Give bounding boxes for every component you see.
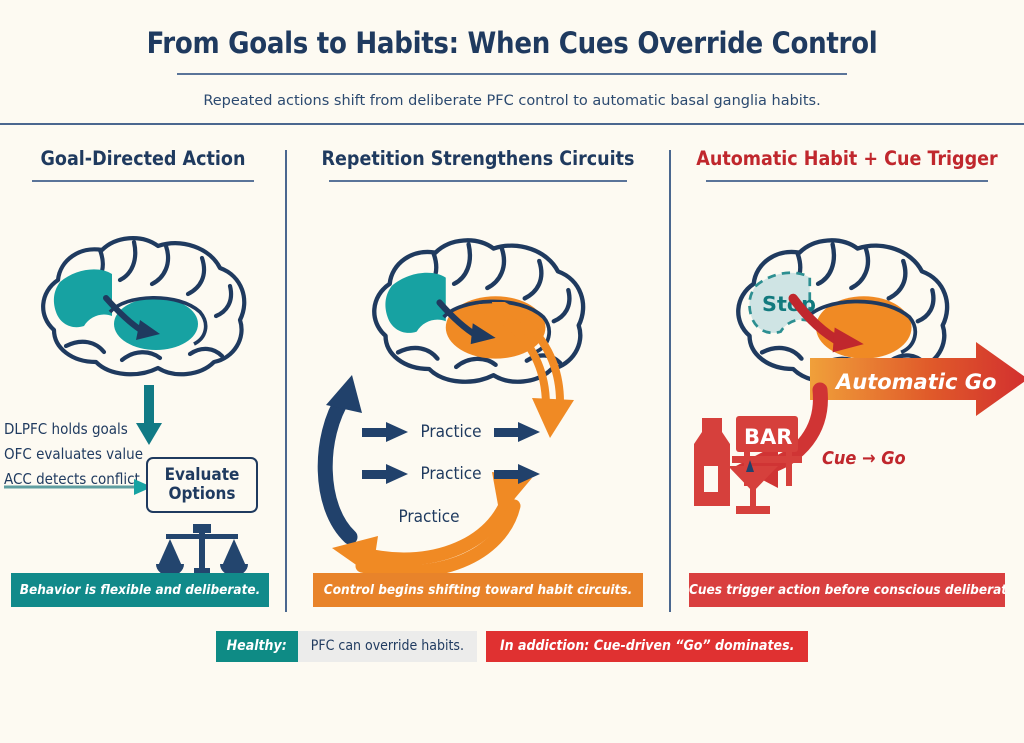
evaluate-box-line2: Options (168, 485, 235, 504)
title-underline (177, 73, 847, 75)
brain-diagram-goal-directed (14, 220, 274, 400)
header-divider (0, 123, 1024, 125)
panel-automatic-habit: Automatic Habit + Cue Trigger (670, 133, 1024, 613)
arrow-right-icon (494, 464, 540, 484)
panel-goal-directed: Goal-Directed Action (0, 133, 286, 613)
panel-3-header: Automatic Habit + Cue Trigger (670, 133, 1024, 182)
addiction-statement: In addiction: Cue-driven “Go” dominates. (486, 631, 808, 662)
practice-label: Practice (418, 464, 484, 484)
panel-divider-1 (285, 150, 287, 612)
panel-1-header: Goal-Directed Action (0, 133, 286, 182)
panel-1-title: Goal-Directed Action (0, 147, 286, 170)
automatic-go-label: Automatic Go (834, 370, 996, 394)
cue-to-go-label: Cue → Go (822, 448, 906, 469)
infographic-page: From Goals to Habits: When Cues Override… (0, 0, 1024, 743)
page-title: From Goals to Habits: When Cues Override… (0, 0, 1024, 60)
panel-3-body: Stop (670, 182, 1024, 562)
bottle-label (704, 466, 718, 492)
header: From Goals to Habits: When Cues Override… (0, 0, 1024, 109)
label-to-box-connector (4, 478, 154, 496)
habit-outflow-pathway (476, 302, 626, 472)
evaluate-box-line1: Evaluate (165, 466, 240, 485)
region-label-ofc: OFC evaluates value (4, 442, 143, 467)
striatum-region (114, 298, 198, 350)
panel-repetition: Repetition Strengthens Circuits (286, 133, 670, 613)
cue-icons-group: BAR (688, 410, 808, 520)
panel-2-body: Practice Practice (286, 182, 670, 562)
bottle-icon (694, 418, 730, 506)
panel-2-header: Repetition Strengthens Circuits (286, 133, 670, 182)
panel-1-body: DLPFC holds goals OFC evaluates value AC… (0, 182, 286, 562)
healthy-chip: Healthy: (216, 631, 298, 662)
panel-row: Goal-Directed Action (0, 133, 1024, 613)
panel-3-title: Automatic Habit + Cue Trigger (670, 147, 1024, 170)
panel-divider-2 (669, 150, 671, 612)
evaluate-options-box[interactable]: Evaluate Options (146, 457, 258, 513)
footer-summary: Healthy: PFC can override habits. In add… (0, 631, 1024, 662)
page-subtitle: Repeated actions shift from deliberate P… (0, 93, 1024, 109)
automatic-go-arrow: Automatic Go (810, 342, 1024, 416)
bar-sign-label: BAR (744, 425, 792, 449)
arrow-right-icon (362, 464, 408, 484)
practice-row: Practice (396, 507, 462, 527)
panel-2-caption: Control begins shifting toward habit cir… (313, 573, 643, 607)
arrow-right-icon (494, 422, 540, 442)
panel-1-caption: Behavior is flexible and deliberate. (11, 573, 269, 607)
practice-row: Practice (362, 464, 540, 484)
healthy-statement: PFC can override habits. (298, 631, 477, 662)
practice-row: Practice (362, 422, 540, 442)
practice-label: Practice (396, 507, 462, 527)
panel-3-caption: Cues trigger action before conscious del… (689, 573, 1005, 607)
arrow-right-icon (362, 422, 408, 442)
cocktail-glass-icon (728, 466, 778, 514)
practice-label: Practice (418, 422, 484, 442)
region-label-dlpfc: DLPFC holds goals (4, 417, 143, 442)
panel-2-title: Repetition Strengthens Circuits (286, 147, 670, 170)
